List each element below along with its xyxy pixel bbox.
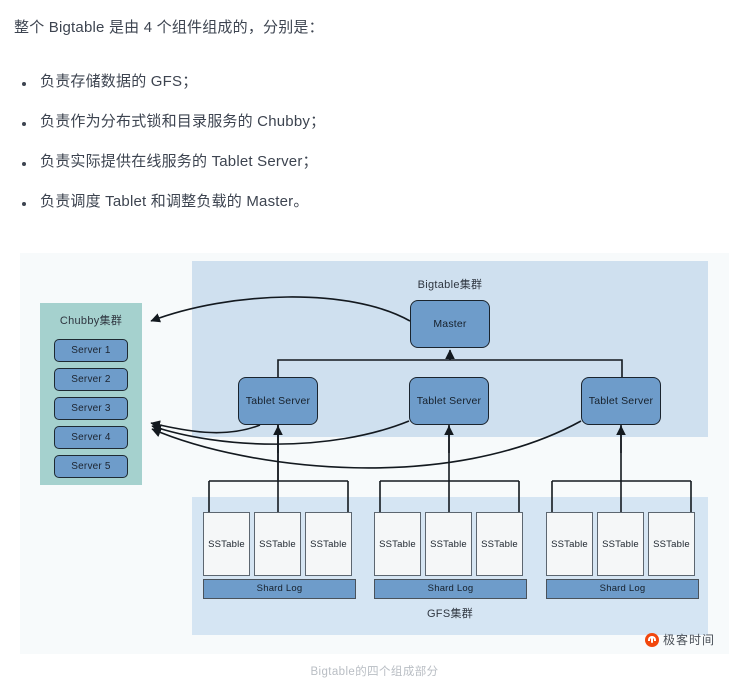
sstable-box: SSTable (597, 512, 644, 576)
shard-log-box: Shard Log (203, 579, 356, 599)
list-item: 负责实际提供在线服务的 Tablet Server； (14, 152, 714, 192)
chubby-server-node: Server 4 (54, 426, 128, 449)
tablet-server-node: Tablet Server (238, 377, 318, 425)
geektime-logo-icon (645, 633, 659, 647)
chubby-server-node: Server 2 (54, 368, 128, 391)
chubby-server-node: Server 1 (54, 339, 128, 362)
list-item-label: 负责作为分布式锁和目录服务的 Chubby； (40, 112, 325, 132)
bigtable-cluster-title: Bigtable集群 (192, 276, 708, 292)
sstable-box: SSTable (648, 512, 695, 576)
watermark: 极客时间 (645, 631, 715, 648)
master-node: Master (410, 300, 490, 348)
architecture-diagram: Chubby集群 Server 1 Server 2 Server 3 Serv… (20, 253, 729, 654)
watermark-label: 极客时间 (663, 631, 715, 648)
list-item: 负责调度 Tablet 和调整负载的 Master。 (14, 192, 714, 232)
sstable-box: SSTable (254, 512, 301, 576)
list-item-label: 负责实际提供在线服务的 Tablet Server； (40, 152, 318, 172)
chubby-server-node: Server 5 (54, 455, 128, 478)
sstable-box: SSTable (425, 512, 472, 576)
bullet-dot-icon (22, 202, 26, 206)
tablet-server-node: Tablet Server (409, 377, 489, 425)
gfs-cluster-title: GFS集群 (192, 605, 708, 621)
bullet-dot-icon (22, 162, 26, 166)
chubby-cluster-title: Chubby集群 (40, 312, 142, 328)
sstable-box: SSTable (305, 512, 352, 576)
bullet-dot-icon (22, 122, 26, 126)
list-item: 负责作为分布式锁和目录服务的 Chubby； (14, 112, 714, 152)
article-bullet-list: 负责存储数据的 GFS； 负责作为分布式锁和目录服务的 Chubby； 负责实际… (14, 72, 714, 232)
sstable-box: SSTable (476, 512, 523, 576)
list-item-label: 负责调度 Tablet 和调整负载的 Master。 (40, 192, 309, 212)
shard-log-box: Shard Log (546, 579, 699, 599)
tablet-server-node: Tablet Server (581, 377, 661, 425)
bullet-dot-icon (22, 82, 26, 86)
list-item: 负责存储数据的 GFS； (14, 72, 714, 112)
sstable-box: SSTable (203, 512, 250, 576)
sstable-box: SSTable (546, 512, 593, 576)
chubby-cluster-box: Chubby集群 Server 1 Server 2 Server 3 Serv… (40, 303, 142, 485)
chubby-server-node: Server 3 (54, 397, 128, 420)
list-item-label: 负责存储数据的 GFS； (40, 72, 197, 92)
figure-caption: Bigtable的四个组成部分 (0, 663, 749, 679)
page-root: 整个 Bigtable 是由 4 个组件组成的，分别是： 负责存储数据的 GFS… (0, 0, 749, 688)
shard-log-box: Shard Log (374, 579, 527, 599)
article-lead-paragraph: 整个 Bigtable 是由 4 个组件组成的，分别是： (14, 16, 324, 40)
sstable-box: SSTable (374, 512, 421, 576)
